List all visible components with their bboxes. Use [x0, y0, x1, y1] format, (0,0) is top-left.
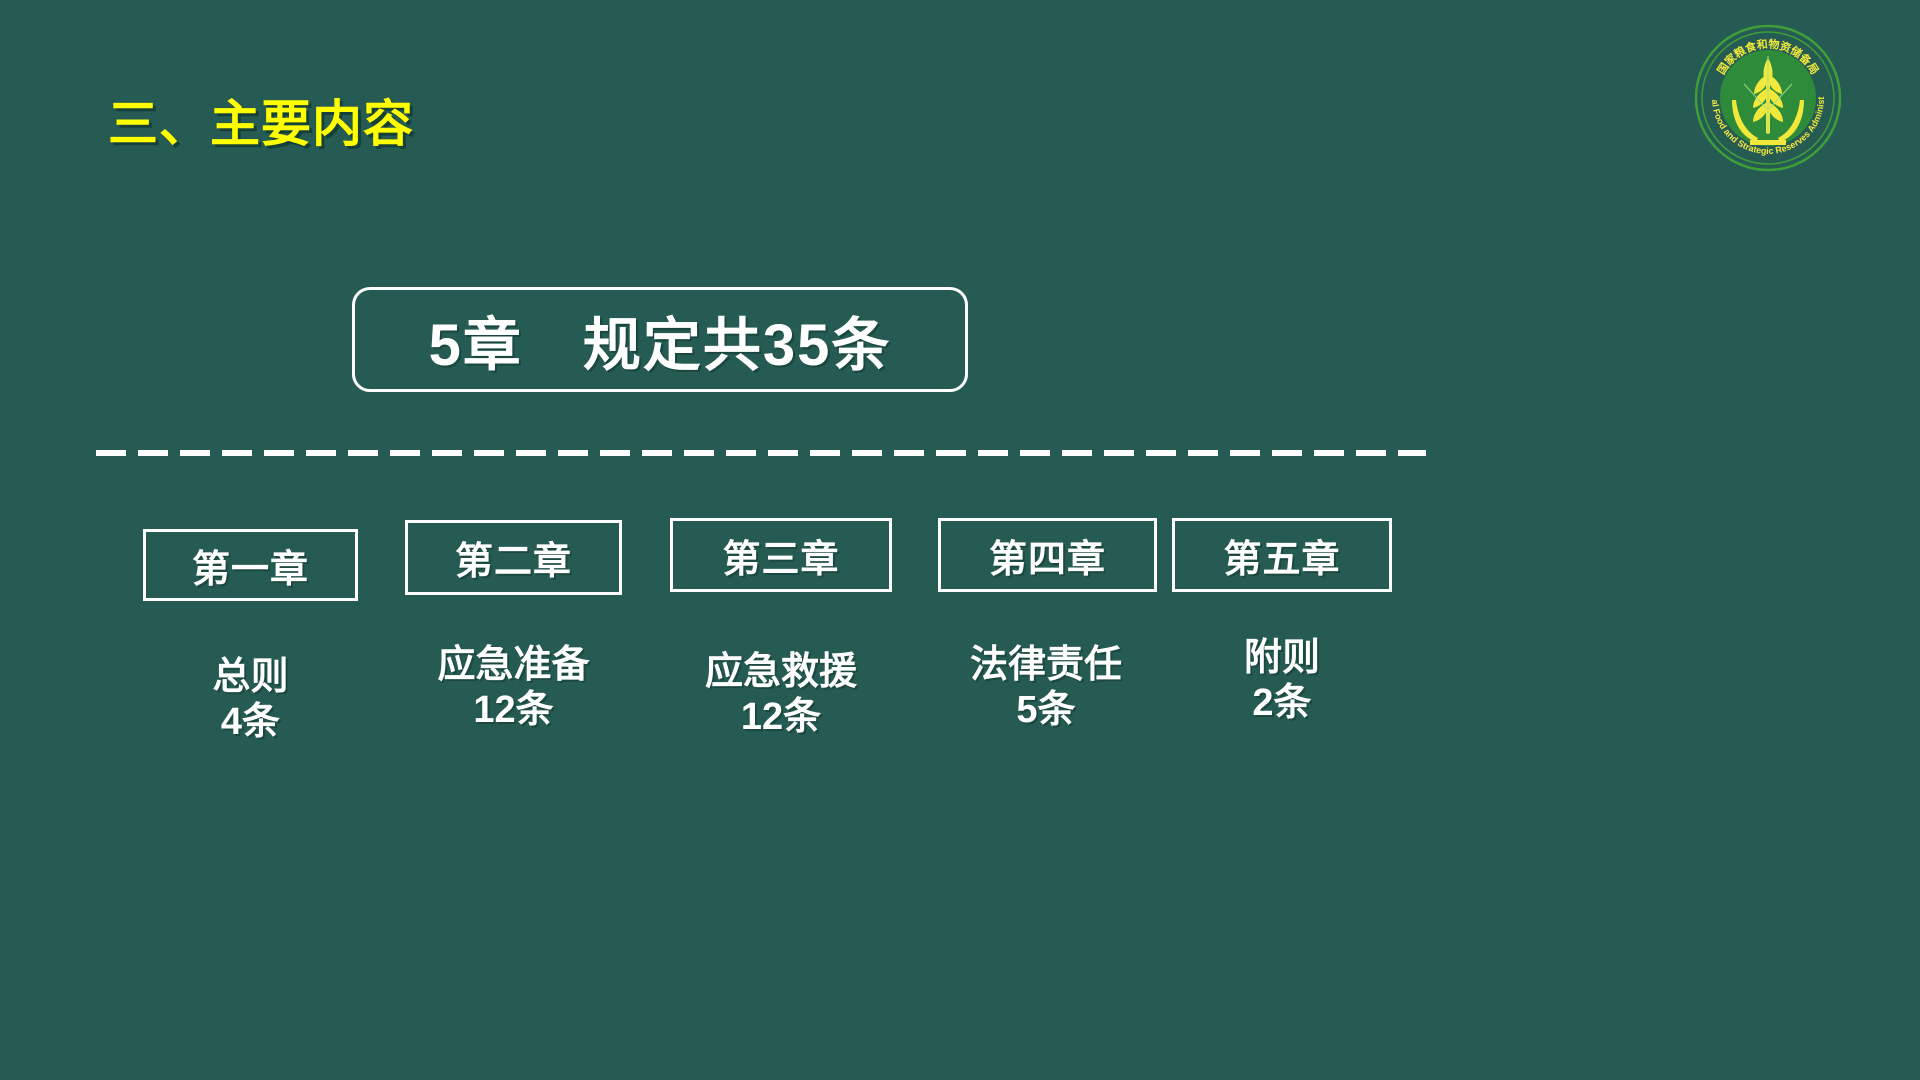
dashed-divider: [96, 450, 1426, 456]
chapter-box-label: 第四章: [989, 528, 1106, 583]
chapter-article-count: 4条: [143, 700, 358, 745]
chapter-box-label: 第三章: [722, 528, 839, 583]
chapter-article-count: 5条: [930, 688, 1162, 733]
chapter-box-1: 第一章: [143, 529, 358, 601]
chapter-caption-1: 总则 4条: [143, 655, 358, 745]
chapter-name: 应急准备: [437, 644, 589, 686]
chapter-caption-5: 附则 2条: [1172, 636, 1392, 726]
chapter-box-3: 第三章: [670, 518, 892, 592]
chapter-box-label: 第五章: [1223, 528, 1340, 583]
chapter-caption-3: 应急救援 12条: [665, 650, 897, 740]
chapter-article-count: 2条: [1172, 681, 1392, 726]
chapter-article-count: 12条: [665, 695, 897, 740]
chapter-name: 总则: [212, 656, 288, 698]
organization-logo: 国家粮食和物资储备局 National Food and Strategic R…: [1692, 22, 1844, 174]
chapter-box-label: 第一章: [192, 538, 309, 593]
chapter-box-4: 第四章: [938, 518, 1157, 592]
chapter-box-2: 第二章: [405, 520, 622, 595]
chapter-box-5: 第五章: [1172, 518, 1392, 592]
chapter-caption-4: 法律责任 5条: [930, 643, 1162, 733]
slide-canvas: 三、主要内容: [0, 0, 1920, 1080]
chapter-name: 法律责任: [970, 644, 1122, 686]
chapter-article-count: 12条: [395, 688, 632, 733]
summary-text: 5章 规定共35条: [429, 298, 892, 382]
chapter-name: 附则: [1244, 637, 1320, 679]
chapter-caption-2: 应急准备 12条: [395, 643, 632, 733]
page-title: 三、主要内容: [108, 84, 414, 156]
summary-box: 5章 规定共35条: [352, 287, 968, 392]
chapter-name: 应急救援: [705, 651, 857, 693]
chapter-box-label: 第二章: [455, 530, 572, 585]
